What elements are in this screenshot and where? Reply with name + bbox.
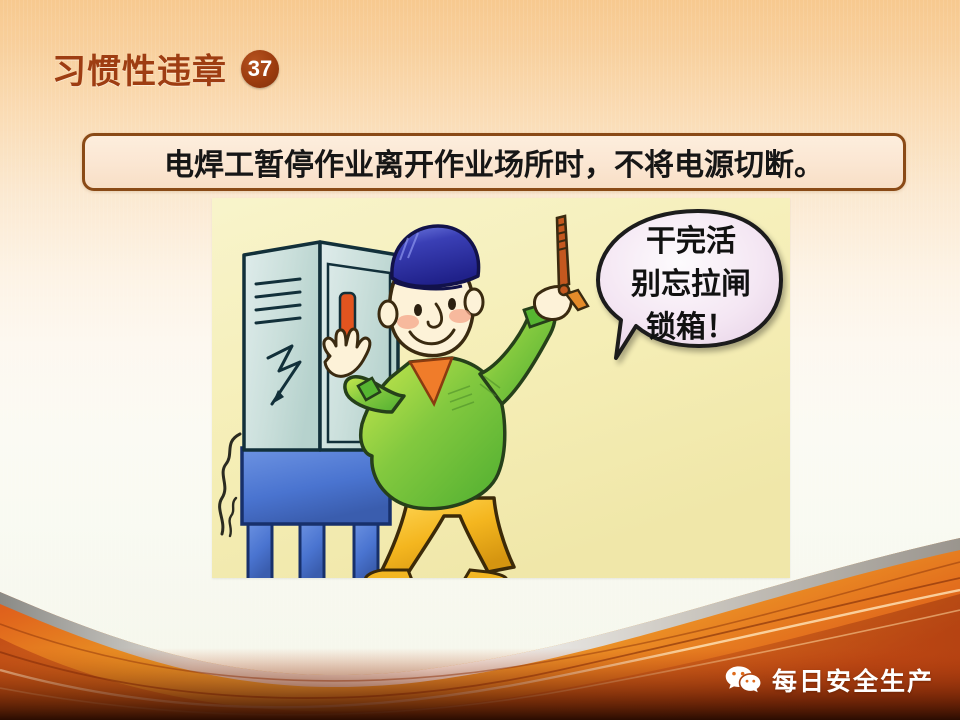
speech-bubble-text: 干完活 别忘拉闸 锁箱！ [631,224,751,344]
statement-text: 电焊工暂停作业离开作业场所时，不将电源切断。 [164,140,824,184]
svg-text:锁箱！: 锁箱！ [646,311,736,344]
status-badge: 37 [241,50,279,88]
page-title: 习惯性违章 [52,44,227,93]
statement-box: 电焊工暂停作业离开作业场所时，不将电源切断。 [82,133,906,191]
wechat-icon [724,665,762,695]
illustration-svg: 干完活 别忘拉闸 锁箱！ [212,198,790,578]
footer-watermark: 每日安全生产 [724,662,934,698]
footer-watermark-text: 每日安全生产 [772,662,934,698]
svg-text:干完活: 干完活 [646,224,736,258]
slide-canvas: 习惯性违章 37 电焊工暂停作业离开作业场所时，不将电源切断。 [0,0,960,720]
svg-text:别忘拉闸: 别忘拉闸 [631,267,751,301]
illustration-figure: 干完活 别忘拉闸 锁箱！ [212,198,790,578]
slide-header: 习惯性违章 37 [52,44,279,93]
